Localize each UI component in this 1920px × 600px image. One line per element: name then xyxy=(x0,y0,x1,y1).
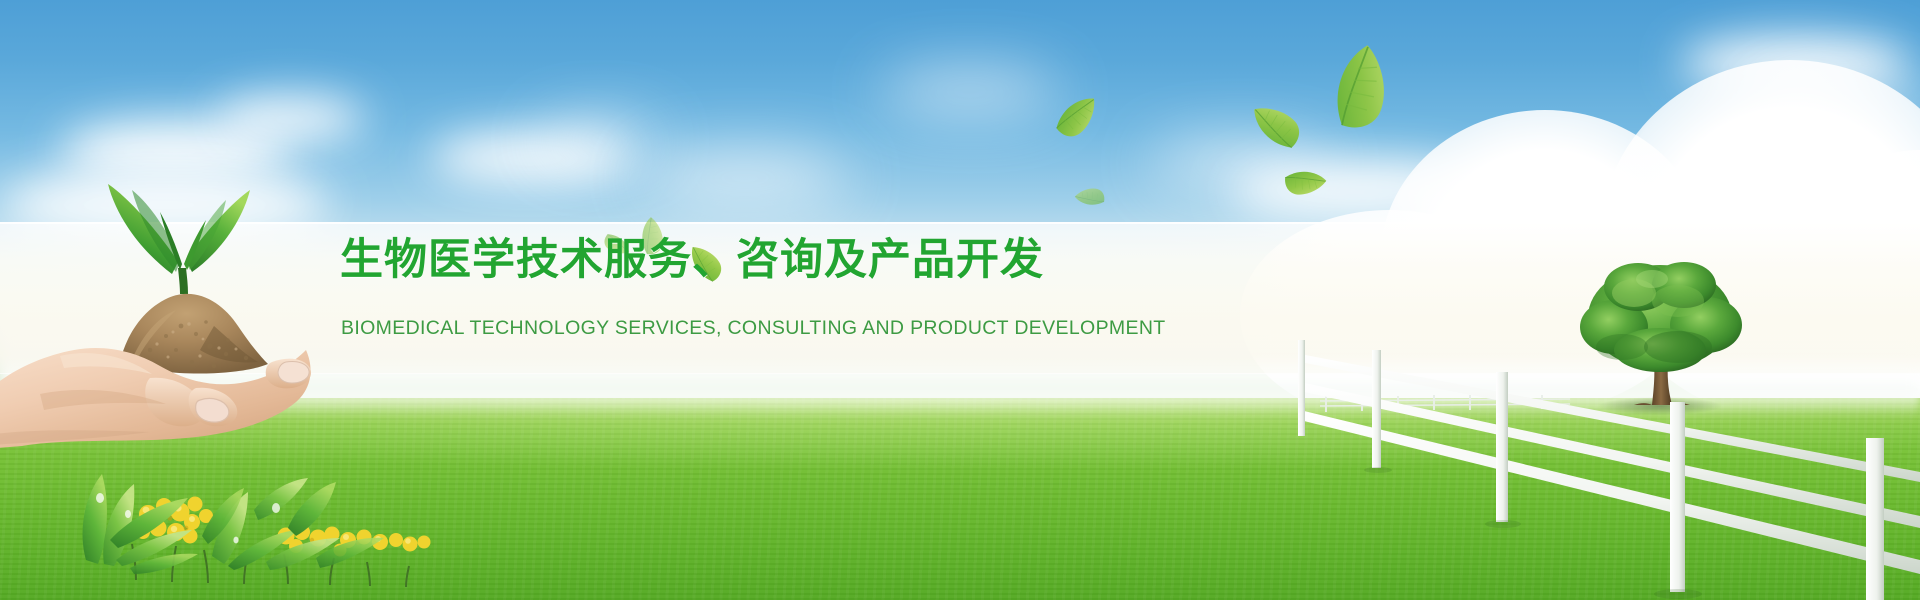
hero-banner: 生物医学技术服务、咨询及产品开发 BIOMEDICAL TECHNOLOGY S… xyxy=(0,0,1920,600)
floating-leaf-icon-1 xyxy=(1242,88,1310,160)
fence-rails xyxy=(1300,354,1920,574)
hand-with-seedling xyxy=(0,150,330,450)
fence xyxy=(1300,320,1920,600)
page-title: 生物医学技术服务、咨询及产品开发 xyxy=(340,239,1044,282)
floating-leaf-icon-2 xyxy=(1280,162,1333,205)
thumbnail xyxy=(278,361,309,383)
floating-leaf-icon-3 xyxy=(1046,88,1110,146)
page-subtitle: BIOMEDICAL TECHNOLOGY SERVICES, CONSULTI… xyxy=(341,319,1166,339)
green-leaves xyxy=(83,474,384,574)
floating-leaf-icon-7 xyxy=(1070,180,1109,213)
fence-shadow xyxy=(1364,467,1702,599)
seedling-leaves xyxy=(108,184,250,294)
cloud-9 xyxy=(1680,36,1910,92)
cloud-2 xyxy=(430,132,630,184)
cloud-3 xyxy=(540,120,660,158)
cloud-10 xyxy=(1760,86,1920,130)
cloud-1 xyxy=(215,96,365,142)
flower-cluster xyxy=(40,440,460,600)
cloud-6 xyxy=(880,70,1060,112)
floating-leaf-icon-0 xyxy=(1312,30,1413,143)
cloud-8 xyxy=(1230,160,1490,220)
cloud-4 xyxy=(640,150,850,206)
